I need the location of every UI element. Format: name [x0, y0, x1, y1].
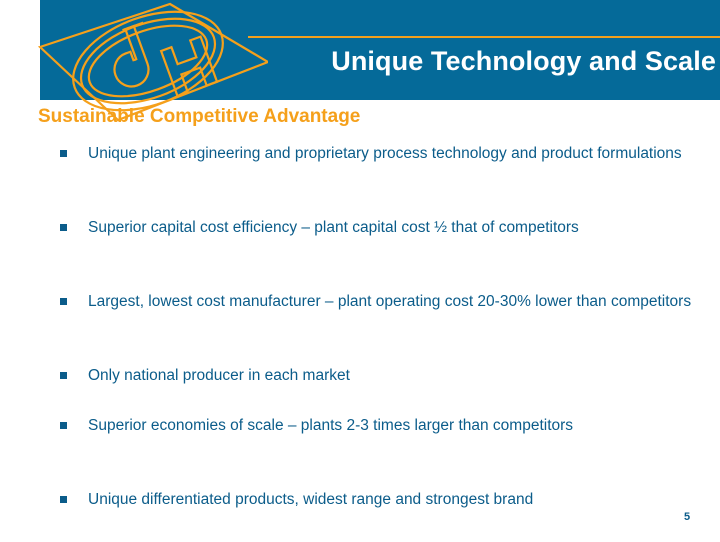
square-bullet-icon — [60, 150, 67, 157]
bullet-text: Unique plant engineering and proprietary… — [88, 142, 700, 167]
presentation-slide: Unique Technology and Scale Sustainable … — [0, 0, 720, 540]
slide-subtitle: Sustainable Competitive Advantage — [38, 105, 360, 128]
square-bullet-icon — [60, 496, 67, 503]
bullet-list: Unique plant engineering and proprietary… — [58, 142, 698, 542]
bullet-text: Only national producer in each market — [88, 364, 700, 389]
bullet-item: Only national producer in each market — [58, 364, 700, 389]
bullet-item: Unique differentiated products, widest r… — [58, 488, 700, 513]
bullet-text: Largest, lowest cost manufacturer – plan… — [88, 290, 700, 315]
square-bullet-icon — [60, 224, 67, 231]
bullet-item: Superior economies of scale – plants 2-3… — [58, 414, 700, 439]
page-number: 5 — [684, 511, 690, 523]
bullet-text: Unique differentiated products, widest r… — [88, 488, 700, 513]
square-bullet-icon — [60, 298, 67, 305]
bullet-item: Unique plant engineering and proprietary… — [58, 142, 700, 167]
bullet-item: Largest, lowest cost manufacturer – plan… — [58, 290, 700, 315]
bullet-item: Superior capital cost efficiency – plant… — [58, 216, 700, 241]
square-bullet-icon — [60, 422, 67, 429]
square-bullet-icon — [60, 372, 67, 379]
bullet-text: Superior capital cost efficiency – plant… — [88, 216, 700, 241]
header-accent-rule — [248, 36, 720, 38]
page-title: Unique Technology and Scale — [258, 45, 716, 77]
bullet-text: Superior economies of scale – plants 2-3… — [88, 414, 700, 439]
